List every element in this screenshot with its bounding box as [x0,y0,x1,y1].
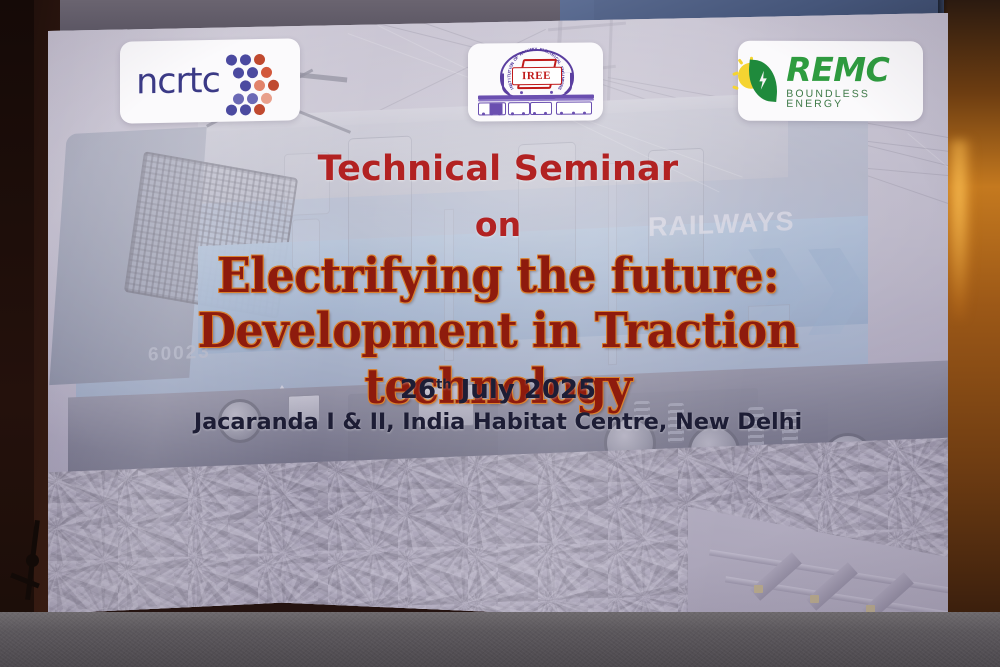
date-day: 26 [400,375,436,405]
seminar-venue: Jacaranda I & II, India Habitat Centre, … [48,409,948,435]
seminar-connector: on [48,205,948,244]
microphone-stand [4,520,48,650]
wall-right [944,0,1000,667]
wall-light-glow [946,140,972,320]
seminar-date: 26th July 2025 [48,375,948,405]
seminar-kicker: Technical Seminar [48,149,948,189]
screenshot-root: RAILWAYS 60023 LIFT [0,0,1000,667]
banner-text-block: Technical Seminar on Electrifying the fu… [48,13,948,635]
floor-carpet-texture [0,612,1000,667]
seminar-title-line1: Electrifying the future: [84,248,912,304]
date-ordinal: th [436,377,451,392]
date-rest: July 2025 [452,375,597,405]
event-backdrop-banner: RAILWAYS 60023 LIFT [48,13,948,635]
